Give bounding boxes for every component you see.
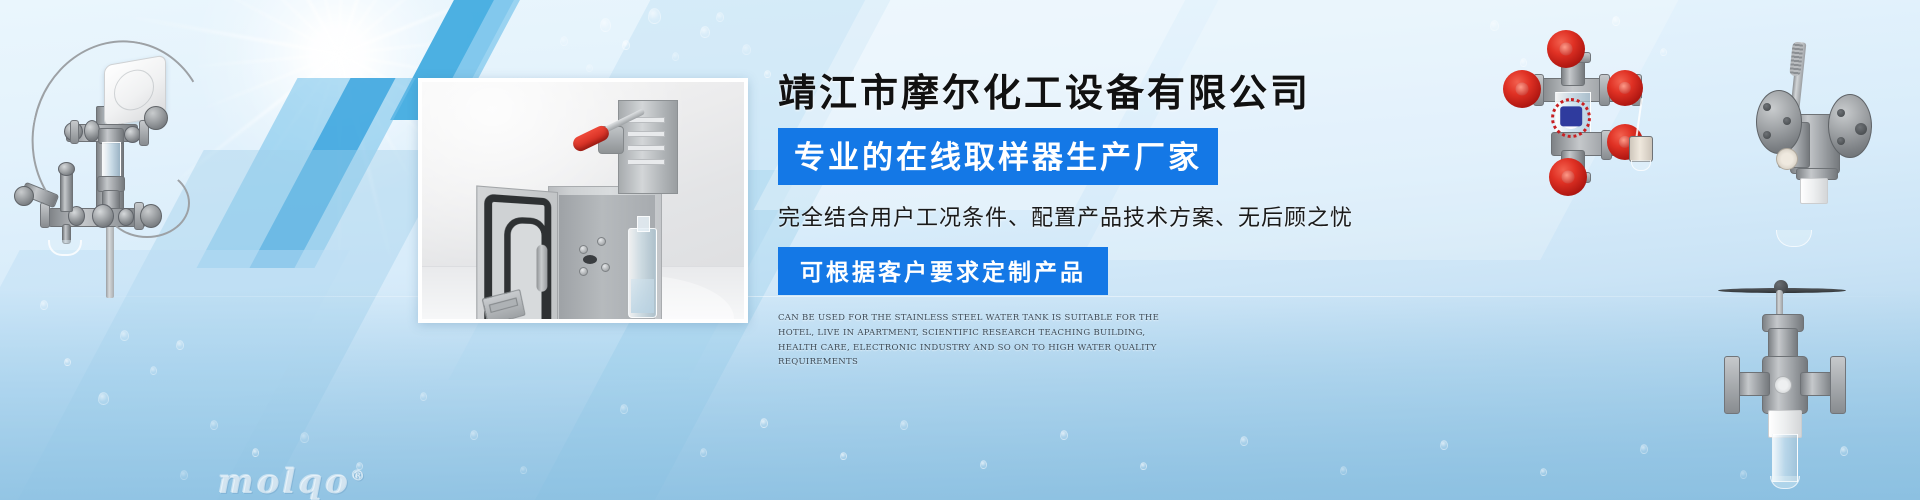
product-banner: 靖江市摩尔化工设备有限公司 专业的在线取样器生产厂家 完全结合用户工况条件、配置… [0, 0, 1920, 500]
registered-mark: ® [351, 469, 368, 485]
water-droplet [420, 392, 427, 401]
water-droplet [1140, 462, 1147, 470]
sun-ray [339, 53, 487, 81]
sun-ray [231, 0, 341, 55]
company-title: 靖江市摩尔化工设备有限公司 [778, 72, 1398, 114]
water-droplet [150, 366, 157, 375]
sampler-valve-head [618, 100, 678, 194]
red-handwheel [1547, 30, 1585, 68]
water-droplet [620, 404, 628, 414]
sampler-cabinet-photo [418, 78, 748, 323]
water-droplet [1640, 444, 1648, 454]
water-droplet [210, 420, 218, 430]
red-handwheel [1503, 70, 1541, 108]
water-droplet [648, 8, 661, 24]
valve-flange [1828, 94, 1872, 158]
water-droplet [1612, 16, 1620, 26]
primary-tagline: 专业的在线取样器生产厂家 [778, 128, 1218, 185]
water-droplet [1490, 20, 1499, 31]
sun-ray [206, 0, 339, 55]
water-droplet [1240, 436, 1248, 446]
company-emblem-icon [1551, 98, 1591, 138]
sun-ray [292, 54, 340, 197]
water-droplet [560, 36, 568, 46]
water-droplet [120, 330, 129, 341]
sun-ray [302, 0, 340, 54]
sun-ray [230, 0, 339, 55]
water-droplet [980, 460, 987, 469]
water-droplet [1340, 466, 1347, 475]
lever-flange-valve-icon [1700, 28, 1870, 198]
water-droplet [622, 40, 630, 50]
sun-ray [339, 0, 539, 55]
water-droplet [64, 358, 71, 366]
water-droplet [1440, 440, 1448, 450]
sun-ray [338, 54, 341, 269]
water-droplet [470, 430, 478, 440]
water-droplet [700, 26, 710, 38]
red-handwheel [1549, 158, 1587, 196]
water-droplet [98, 392, 109, 405]
water-droplet [300, 432, 309, 443]
water-droplet [764, 70, 771, 78]
sun-ray [338, 0, 345, 54]
water-droplet [700, 448, 707, 457]
secondary-tagline: 完全结合用户工况条件、配置产品技术方案、无后顾之忧 [778, 200, 1398, 232]
sample-bottle [628, 228, 657, 318]
sun-ray [338, 0, 424, 55]
custom-product-tagline: 可根据客户要求定制产品 [778, 247, 1108, 295]
sun-ray [338, 54, 415, 185]
sun-ray [338, 0, 407, 54]
water-droplet [742, 44, 751, 55]
water-droplet [40, 300, 48, 310]
red-handwheel [1607, 70, 1643, 106]
water-droplet [176, 340, 184, 350]
water-droplet [600, 18, 611, 32]
water-droplet [716, 12, 724, 22]
valve-flange [1756, 90, 1802, 154]
sun-ray [189, 53, 339, 68]
brand-watermark: molqo® [218, 462, 368, 500]
sun-ray [200, 53, 340, 111]
water-droplet [900, 420, 908, 430]
gate-valve-icon [1710, 228, 1875, 496]
water-droplet [672, 52, 679, 61]
diagonal-stripe [196, 78, 415, 268]
water-droplet [520, 466, 527, 474]
sun-ray [338, 0, 454, 55]
banner-copy: 靖江市摩尔化工设备有限公司 专业的在线取样器生产厂家 完全结合用户工况条件、配置… [778, 72, 1398, 370]
water-droplet [586, 64, 593, 72]
cabinet-door [476, 185, 558, 319]
water-droplet [760, 418, 768, 428]
diagonal-stripe [249, 78, 395, 268]
sun-ray [338, 54, 393, 263]
water-droplet [1540, 468, 1547, 476]
water-droplet [252, 448, 259, 457]
water-droplet [180, 470, 188, 480]
cross-valve-manifold-icon [1495, 32, 1680, 187]
sun-ray [254, 53, 340, 178]
sampling-apparatus-icon [8, 28, 188, 298]
water-droplet [840, 452, 847, 460]
sun-ray [339, 37, 488, 55]
watermark-text: molqo [218, 462, 351, 500]
water-droplet [1060, 430, 1068, 440]
english-description: CAN BE USED FOR THE STAINLESS STEEL WATE… [778, 311, 1183, 371]
